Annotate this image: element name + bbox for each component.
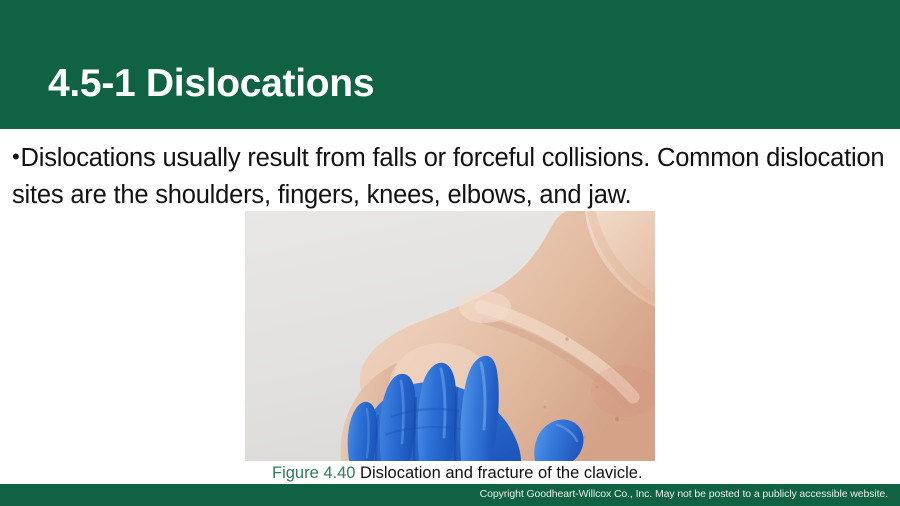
- body-content: •Dislocations usually result from falls …: [12, 138, 888, 214]
- shoulder-palpation-photo-illustration: [245, 211, 655, 461]
- figure-caption-text: Dislocation and fracture of the clavicle…: [355, 464, 642, 482]
- bullet-list-item: •Dislocations usually result from falls …: [12, 138, 888, 214]
- presentation-slide: 4.5-1 Dislocations •Dislocations usually…: [0, 0, 900, 506]
- copyright-notice: Copyright Goodheart-Willcox Co., Inc. Ma…: [480, 488, 888, 500]
- figure-image: [245, 211, 655, 461]
- bullet-text: Dislocations usually result from falls o…: [12, 144, 884, 209]
- title-banner: 4.5-1 Dislocations: [0, 0, 900, 129]
- bullet-marker-icon: •: [12, 138, 20, 175]
- figure-caption-label: Figure 4.40: [272, 464, 355, 482]
- page-title: 4.5-1 Dislocations: [48, 64, 374, 103]
- figure-caption: Figure 4.40 Dislocation and fracture of …: [272, 461, 692, 485]
